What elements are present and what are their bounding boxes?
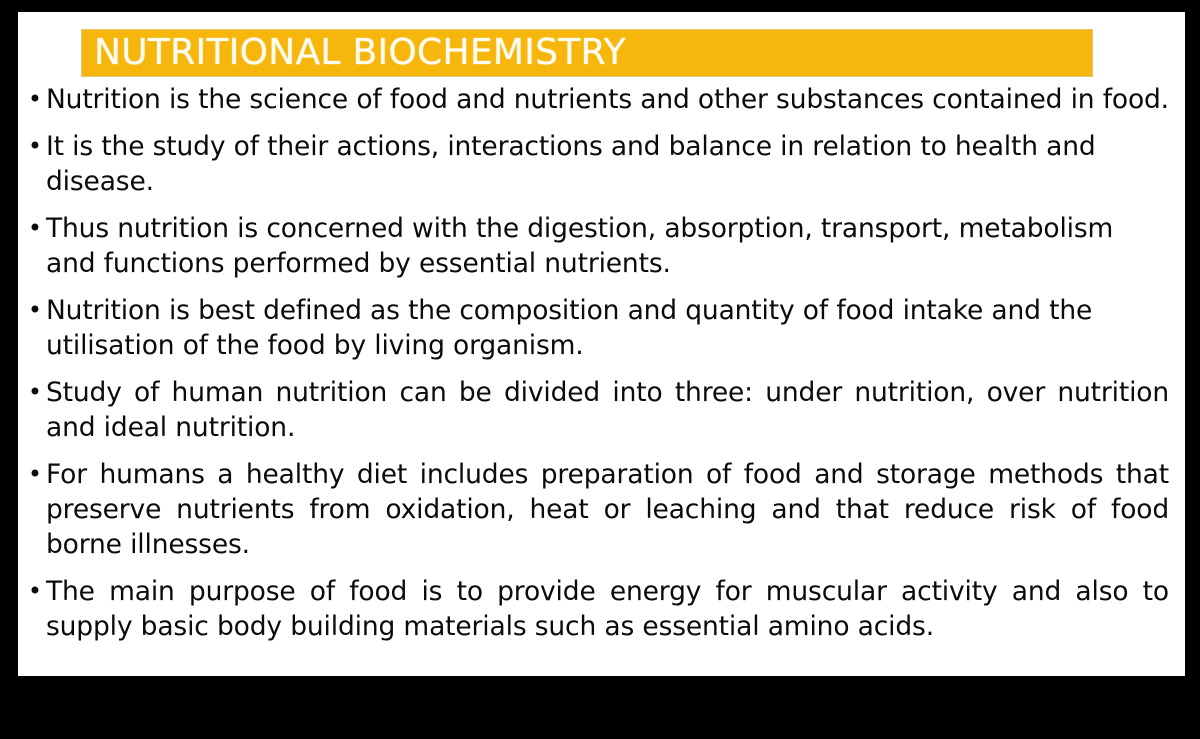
list-item: •The main purpose of food is to provide … (18, 574, 1185, 644)
slide-surface: NUTRITIONAL BIOCHEMISTRY •Nutrition is t… (18, 12, 1185, 676)
list-item: •For humans a healthy diet includes prep… (18, 457, 1185, 562)
bullet-list: •Nutrition is the science of food and nu… (18, 82, 1185, 656)
list-item: •Nutrition is best defined as the compos… (18, 293, 1185, 363)
bullet-point-icon: • (24, 375, 46, 410)
bullet-point-icon: • (24, 211, 46, 246)
slide-title-band: NUTRITIONAL BIOCHEMISTRY (82, 30, 1092, 76)
page-title: NUTRITIONAL BIOCHEMISTRY (94, 34, 626, 72)
bullet-point-icon: • (24, 293, 46, 328)
bullet-point-icon: • (24, 129, 46, 164)
list-item-text: Nutrition is best defined as the composi… (46, 293, 1169, 363)
list-item-text: Nutrition is the science of food and nut… (46, 82, 1169, 117)
bullet-point-icon: • (24, 457, 46, 492)
list-item: •Nutrition is the science of food and nu… (18, 82, 1185, 117)
list-item-text: Thus nutrition is concerned with the dig… (46, 211, 1169, 281)
slide-canvas: NUTRITIONAL BIOCHEMISTRY •Nutrition is t… (0, 0, 1200, 739)
list-item: •Study of human nutrition can be divided… (18, 375, 1185, 445)
bullet-point-icon: • (24, 574, 46, 609)
bullet-point-icon: • (24, 82, 46, 117)
list-item-text: For humans a healthy diet includes prepa… (46, 457, 1169, 562)
list-item: •It is the study of their actions, inter… (18, 129, 1185, 199)
list-item-text: Study of human nutrition can be divided … (46, 375, 1169, 445)
list-item-text: It is the study of their actions, intera… (46, 129, 1169, 199)
list-item-text: The main purpose of food is to provide e… (46, 574, 1169, 644)
list-item: •Thus nutrition is concerned with the di… (18, 211, 1185, 281)
